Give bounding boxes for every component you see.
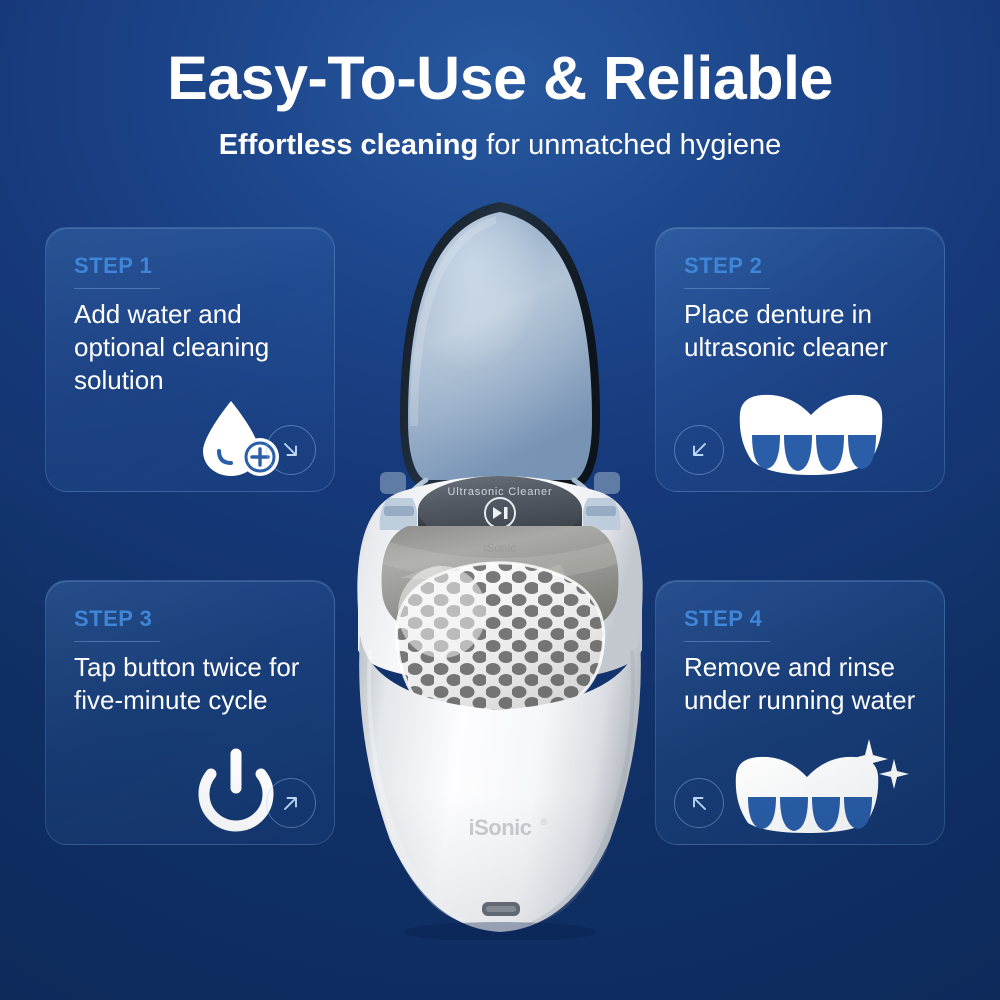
step-3-divider: [74, 641, 160, 642]
step-2-text: Place denture in ultrasonic cleaner: [684, 298, 922, 364]
step-card-1[interactable]: STEP 1 Add water and optional cleaning s…: [45, 227, 335, 492]
step-3-text: Tap button twice for five-minute cycle: [74, 651, 312, 717]
step-4-divider: [684, 641, 770, 642]
step-1-divider: [74, 288, 160, 289]
step-1-label: STEP 1: [74, 253, 152, 279]
page-subtitle: Effortless cleaning for unmatched hygien…: [0, 130, 1000, 162]
subtitle-rest: for unmatched hygiene: [478, 129, 781, 161]
arrow-down-left-icon: [674, 425, 724, 475]
header: Easy-To-Use & Reliable Effortless cleani…: [0, 46, 1000, 162]
step-3-label: STEP 3: [74, 606, 152, 632]
infographic-canvas: Ultrasonic Cleaner F3900 iSonic: [0, 0, 1000, 1000]
sparkle-small: [879, 759, 909, 789]
sparkling-denture-icon: [726, 736, 911, 836]
step-2-label: STEP 2: [684, 253, 762, 279]
control-panel-title: Ultrasonic Cleaner: [448, 486, 553, 498]
denture-icon: [731, 388, 891, 478]
step-card-4[interactable]: STEP 4 Remove and rinse under running wa…: [655, 580, 945, 845]
brand-logo: iSonic: [468, 815, 531, 840]
arrow-up-left-icon: [674, 778, 724, 828]
step-4-label: STEP 4: [684, 606, 762, 632]
page-title: Easy-To-Use & Reliable: [0, 46, 1000, 110]
arrow-up-right-icon: [266, 778, 316, 828]
product-image: Ultrasonic Cleaner F3900 iSonic: [330, 180, 680, 940]
step-2-divider: [684, 288, 770, 289]
arrow-down-right-icon: [266, 425, 316, 475]
step-card-2[interactable]: STEP 2 Place denture in ultrasonic clean…: [655, 227, 945, 492]
power-button-icon: [191, 746, 281, 836]
svg-text:iSonic: iSonic: [484, 541, 517, 555]
step-card-3[interactable]: STEP 3 Tap button twice for five-minute …: [45, 580, 335, 845]
brand-trademark: ®: [541, 817, 548, 827]
subtitle-bold: Effortless cleaning: [219, 129, 478, 161]
step-4-text: Remove and rinse under running water: [684, 651, 922, 717]
step-1-text: Add water and optional cleaning solution: [74, 298, 312, 396]
